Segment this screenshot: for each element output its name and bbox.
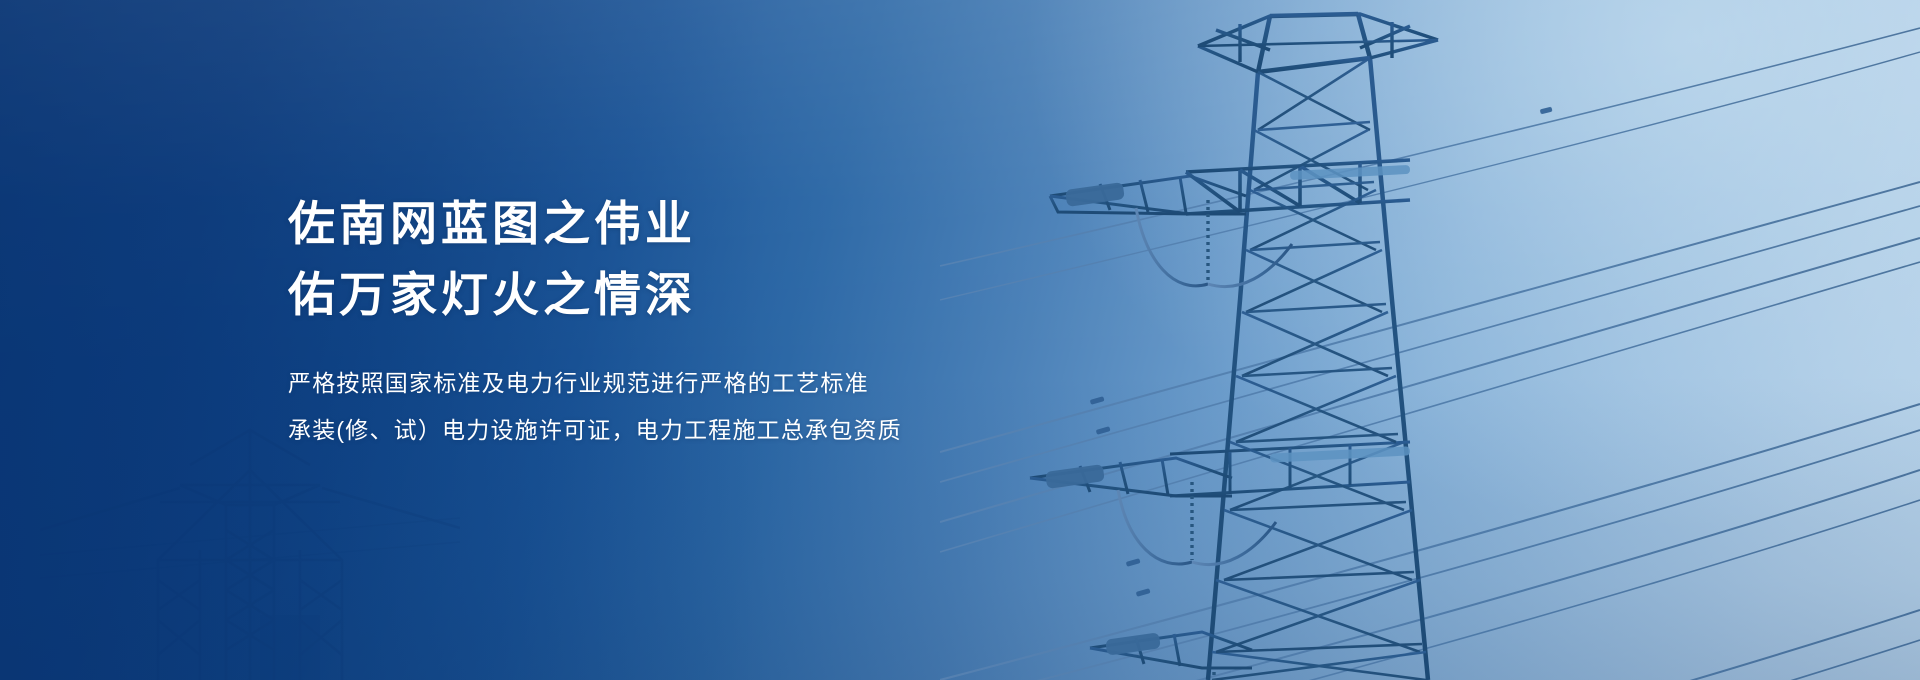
headline-line-2: 佑万家灯火之情深 <box>288 259 1048 330</box>
headline-line-1: 佐南网蓝图之伟业 <box>288 188 1048 259</box>
subtitle-block: 严格按照国家标准及电力行业规范进行严格的工艺标准 承装(修、试）电力设施许可证，… <box>288 360 1048 454</box>
subtitle-line-2: 承装(修、试）电力设施许可证，电力工程施工总承包资质 <box>288 407 1048 454</box>
transmission-tower-graphic <box>940 0 1920 680</box>
subtitle-line-1: 严格按照国家标准及电力行业规范进行严格的工艺标准 <box>288 360 1048 407</box>
hero-banner: 佐南网蓝图之伟业 佑万家灯火之情深 严格按照国家标准及电力行业规范进行严格的工艺… <box>0 0 1920 680</box>
banner-text-block: 佐南网蓝图之伟业 佑万家灯火之情深 严格按照国家标准及电力行业规范进行严格的工艺… <box>288 188 1048 454</box>
